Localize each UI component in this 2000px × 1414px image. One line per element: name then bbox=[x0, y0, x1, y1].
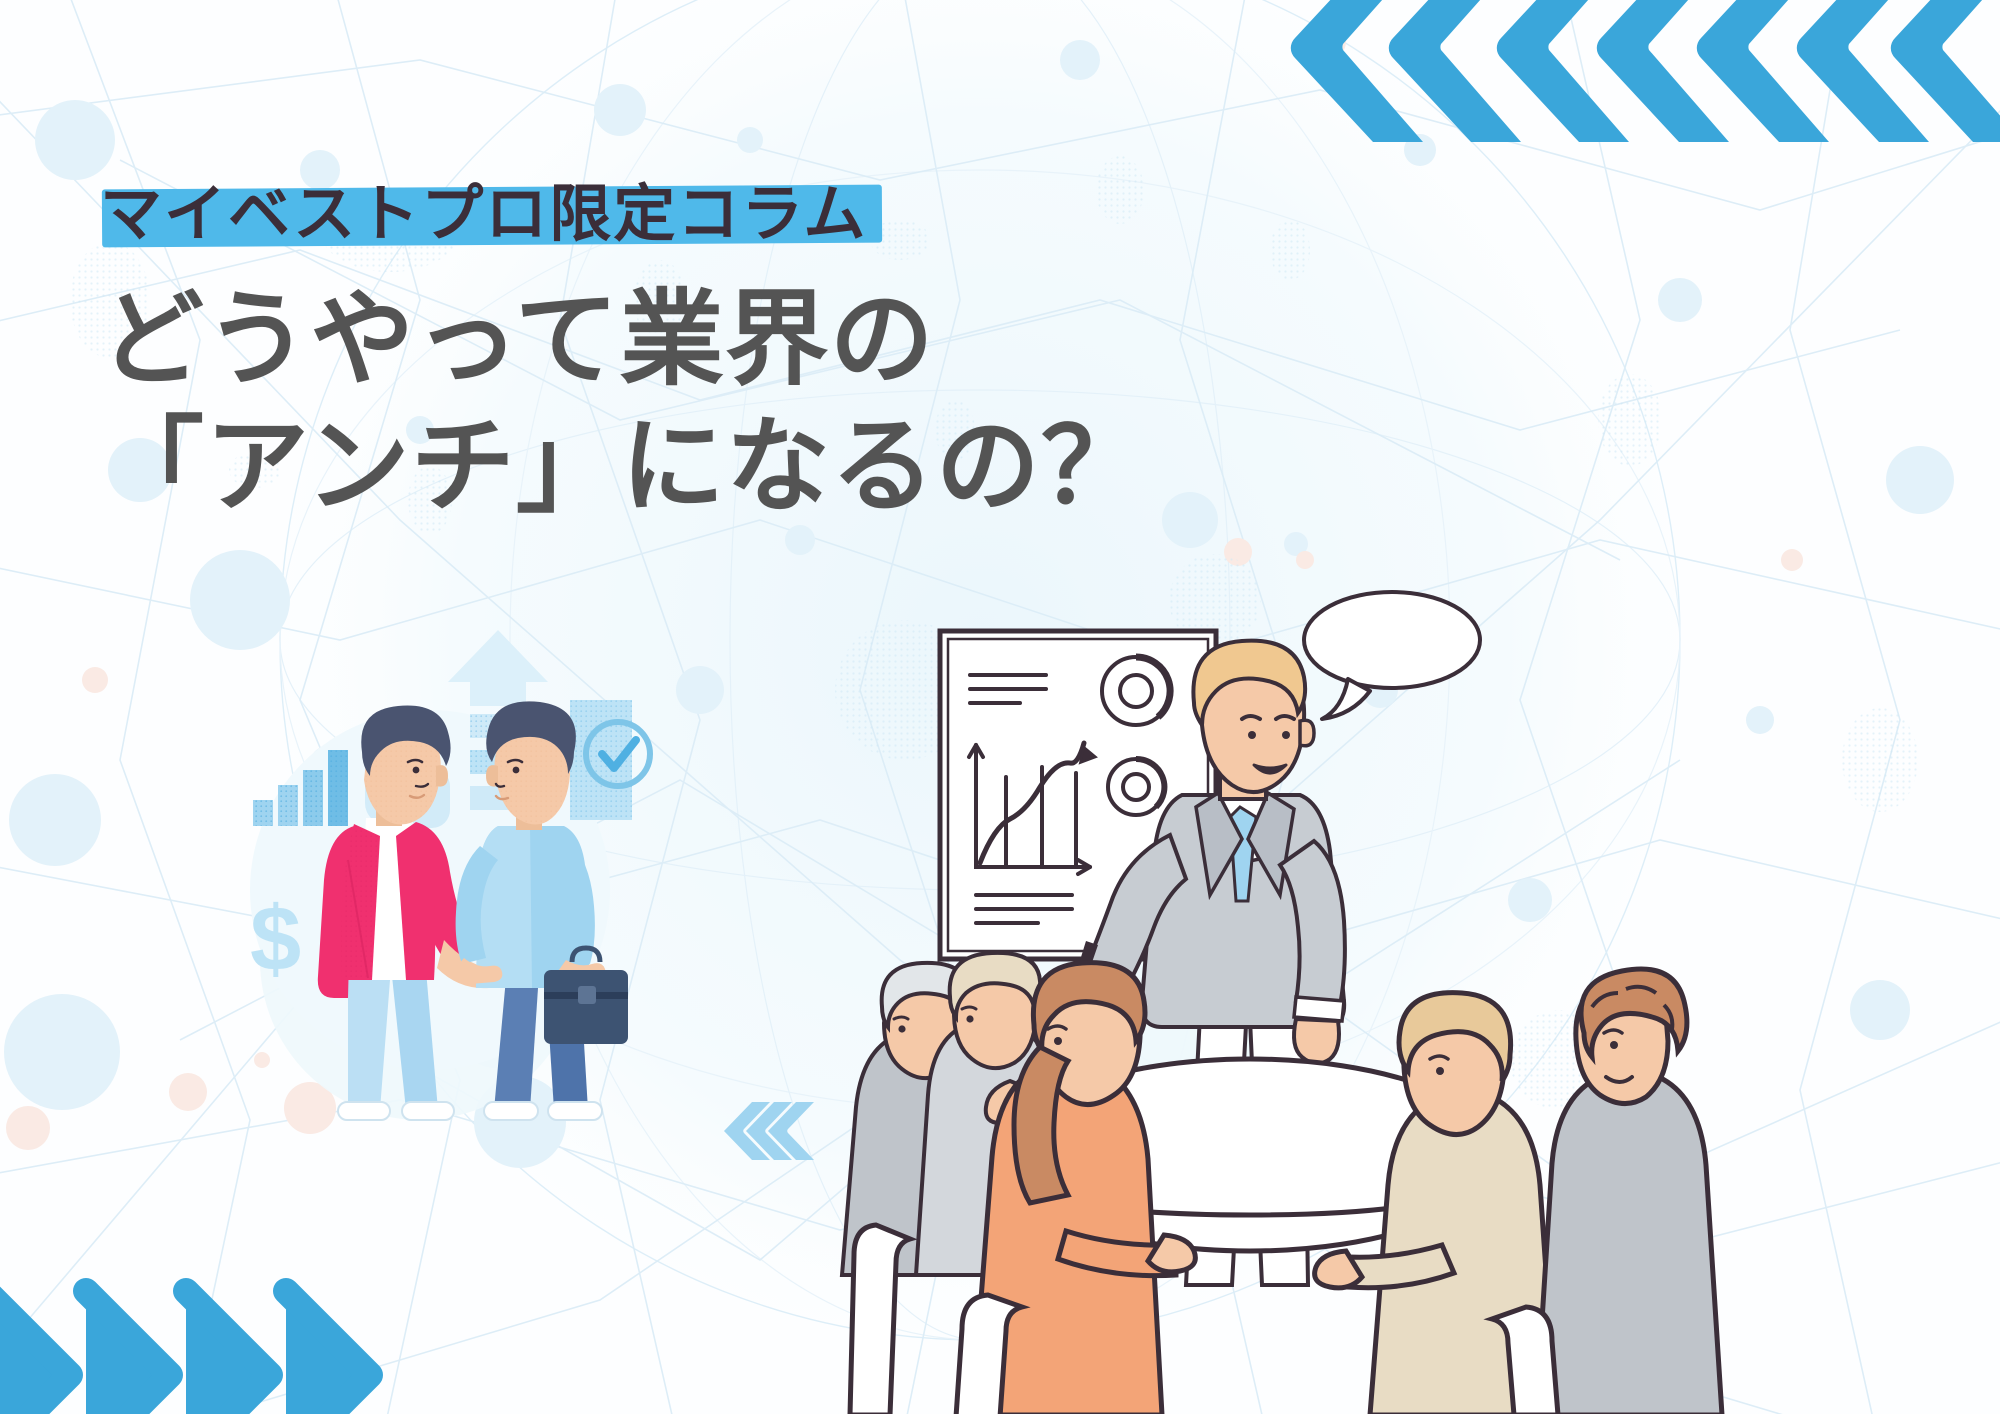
chevron-left-group bbox=[1255, 0, 2000, 114]
poster-canvas: マイベストプロ限定コラム どうやって業界の 「アンチ」になるの？ bbox=[0, 0, 2000, 1414]
page-title: どうやって業界の 「アンチ」になるの？ bbox=[100, 277, 1146, 531]
dollar-sign-icon: $ bbox=[250, 888, 301, 990]
headline-line-2: 「アンチ」になるの？ bbox=[100, 404, 1146, 531]
title-block: マイベストプロ限定コラム どうやって業界の 「アンチ」になるの？ bbox=[100, 178, 1146, 531]
illustration-two-businessmen: $ bbox=[230, 640, 790, 1140]
headline-line-1: どうやって業界の bbox=[100, 277, 1146, 404]
audience-person-far-right bbox=[1536, 969, 1722, 1414]
chevron-right-group bbox=[0, 1265, 380, 1414]
speech-bubble-icon bbox=[1304, 592, 1480, 719]
svg-text:$: $ bbox=[250, 888, 301, 990]
eyebrow-wrapper: マイベストプロ限定コラム bbox=[100, 178, 867, 251]
illustration-business-meeting bbox=[780, 595, 2000, 1414]
eyebrow-label: マイベストプロ限定コラム bbox=[100, 178, 867, 251]
